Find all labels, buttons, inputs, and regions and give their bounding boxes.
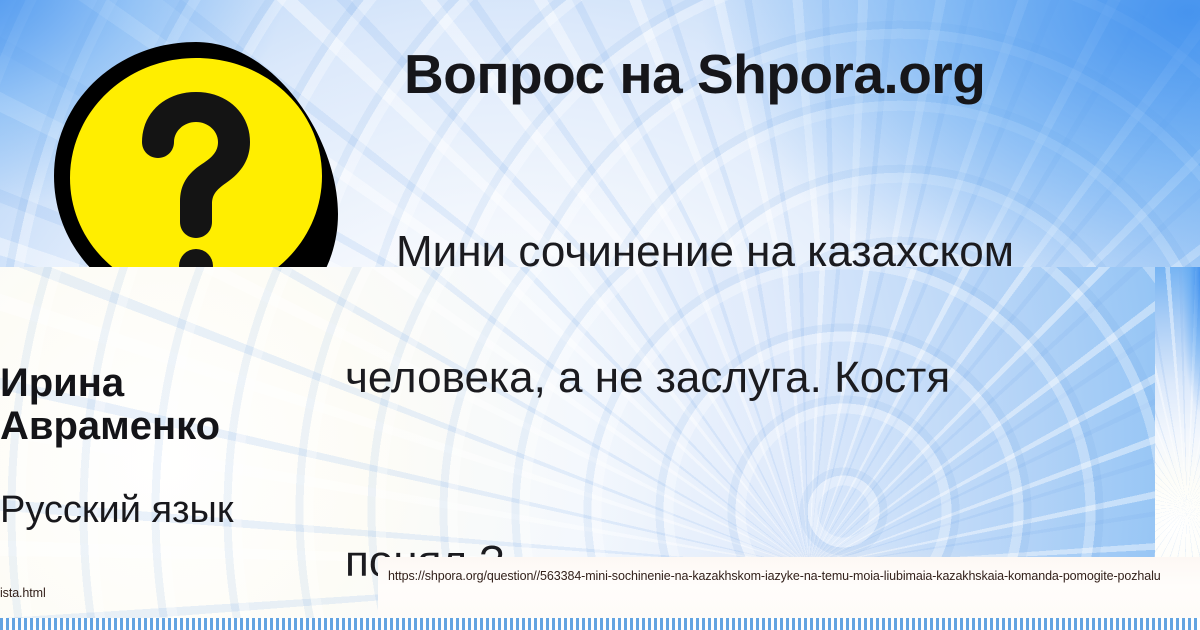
overlay-panel-right-sliver [1155, 267, 1200, 557]
bottom-dot-strip [0, 618, 1200, 630]
author-subject: Русский язык [0, 489, 234, 532]
question-overlay-text-block: человека, а не заслуга. Костя понял ? [345, 285, 1155, 593]
screenshot-canvas: Вопрос на Shpora.org Мини сочинение на к… [0, 0, 1200, 630]
footer-url-tail[interactable]: ista.html [0, 586, 46, 600]
swirl-background-sliver [1155, 267, 1200, 557]
page-title: Вопрос на Shpora.org [404, 46, 985, 104]
footer-url-main[interactable]: https://shpora.org/question//563384-mini… [388, 569, 1161, 583]
author-name: Ирина Авраменко [0, 362, 370, 448]
author-name-line-2: Авраменко [0, 404, 220, 448]
question-overlay-line-1: человека, а не заслуга. Костя [345, 353, 950, 402]
swirl-cool-glow-sliver [1155, 267, 1200, 557]
author-name-line-1: Ирина [0, 361, 124, 405]
